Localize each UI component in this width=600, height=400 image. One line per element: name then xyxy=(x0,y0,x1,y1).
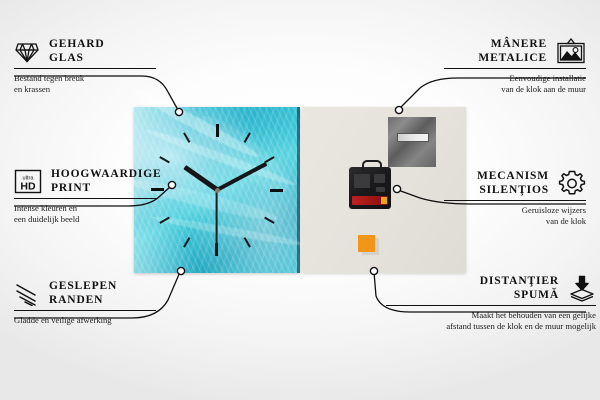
movement-hook xyxy=(362,160,382,171)
feature-header: MECANISM SILENŢIOS xyxy=(386,170,586,200)
feature-title: GESLEPEN RANDEN xyxy=(49,280,117,307)
polished-edges-icon xyxy=(14,282,40,306)
feature-header: DISTANŢIER SPUMĂ xyxy=(386,275,596,305)
feature-rule xyxy=(14,198,156,199)
feature-handles: MÂNERE METALICE Eenvoudige installatie v… xyxy=(386,38,586,94)
quartz-movement xyxy=(349,167,391,209)
movement-detail xyxy=(376,187,385,192)
foam-spacer xyxy=(358,235,375,252)
feature-header: ultra HD HOOGWAARDIGE PRINT xyxy=(14,168,214,198)
feature-mechanism: MECANISM SILENŢIOS Geruisloze wijzers va… xyxy=(386,170,586,226)
movement-detail xyxy=(374,174,385,183)
clock-second-hand xyxy=(216,190,218,250)
metal-hanger-plate xyxy=(388,117,436,167)
feature-title: MÂNERE METALICE xyxy=(478,38,547,65)
battery xyxy=(352,196,388,205)
feature-description: Bestand tegen breuk en krassen xyxy=(14,73,214,94)
feature-edges: GESLEPEN RANDEN Gladde en veilige afwerk… xyxy=(14,280,214,326)
feature-rule xyxy=(14,68,156,69)
feature-rule xyxy=(386,305,596,306)
feature-rule xyxy=(444,200,586,201)
feature-rule xyxy=(14,310,156,311)
hanger-slot xyxy=(397,133,429,142)
movement-detail xyxy=(354,174,370,188)
clock-center-cap xyxy=(215,188,220,193)
feature-header: GEHARD GLAS xyxy=(14,38,214,68)
feature-header: MÂNERE METALICE xyxy=(386,38,586,68)
feature-description: Gladde en veilige afwerking xyxy=(14,315,214,325)
feature-description: Geruisloze wijzers van de klok xyxy=(386,205,586,226)
feature-description: Eenvoudige installatie van de klok aan d… xyxy=(386,73,586,94)
clock-tick xyxy=(217,189,283,191)
feature-spacer: DISTANŢIER SPUMĂ Maakt het behouden van … xyxy=(386,275,596,331)
feature-glass: GEHARD GLAS Bestand tegen breuk en krass… xyxy=(14,38,214,94)
feature-description: Intense kleuren en een duidelijk beeld xyxy=(14,203,214,224)
feature-description: Maakt het behouden van een gelijke afsta… xyxy=(386,310,596,331)
feature-title: MECANISM SILENŢIOS xyxy=(477,170,549,197)
feature-title: HOOGWAARDIGE PRINT xyxy=(51,168,162,195)
clock-tick xyxy=(216,124,218,190)
product-infographic: GEHARD GLAS Bestand tegen breuk en krass… xyxy=(0,0,600,400)
feature-print: ultra HD HOOGWAARDIGE PRINT Intense kleu… xyxy=(14,168,214,224)
press-down-layers-icon xyxy=(568,275,596,302)
feature-title: DISTANŢIER SPUMĂ xyxy=(480,275,559,302)
ultra-hd-icon: ultra HD xyxy=(14,169,42,194)
feature-header: GESLEPEN RANDEN xyxy=(14,280,214,310)
gear-icon xyxy=(558,170,586,197)
picture-frame-icon xyxy=(556,38,586,65)
svg-text:HD: HD xyxy=(20,181,36,193)
feature-title: GEHARD GLAS xyxy=(49,38,105,65)
feature-rule xyxy=(444,68,586,69)
diamond-icon xyxy=(14,40,40,64)
